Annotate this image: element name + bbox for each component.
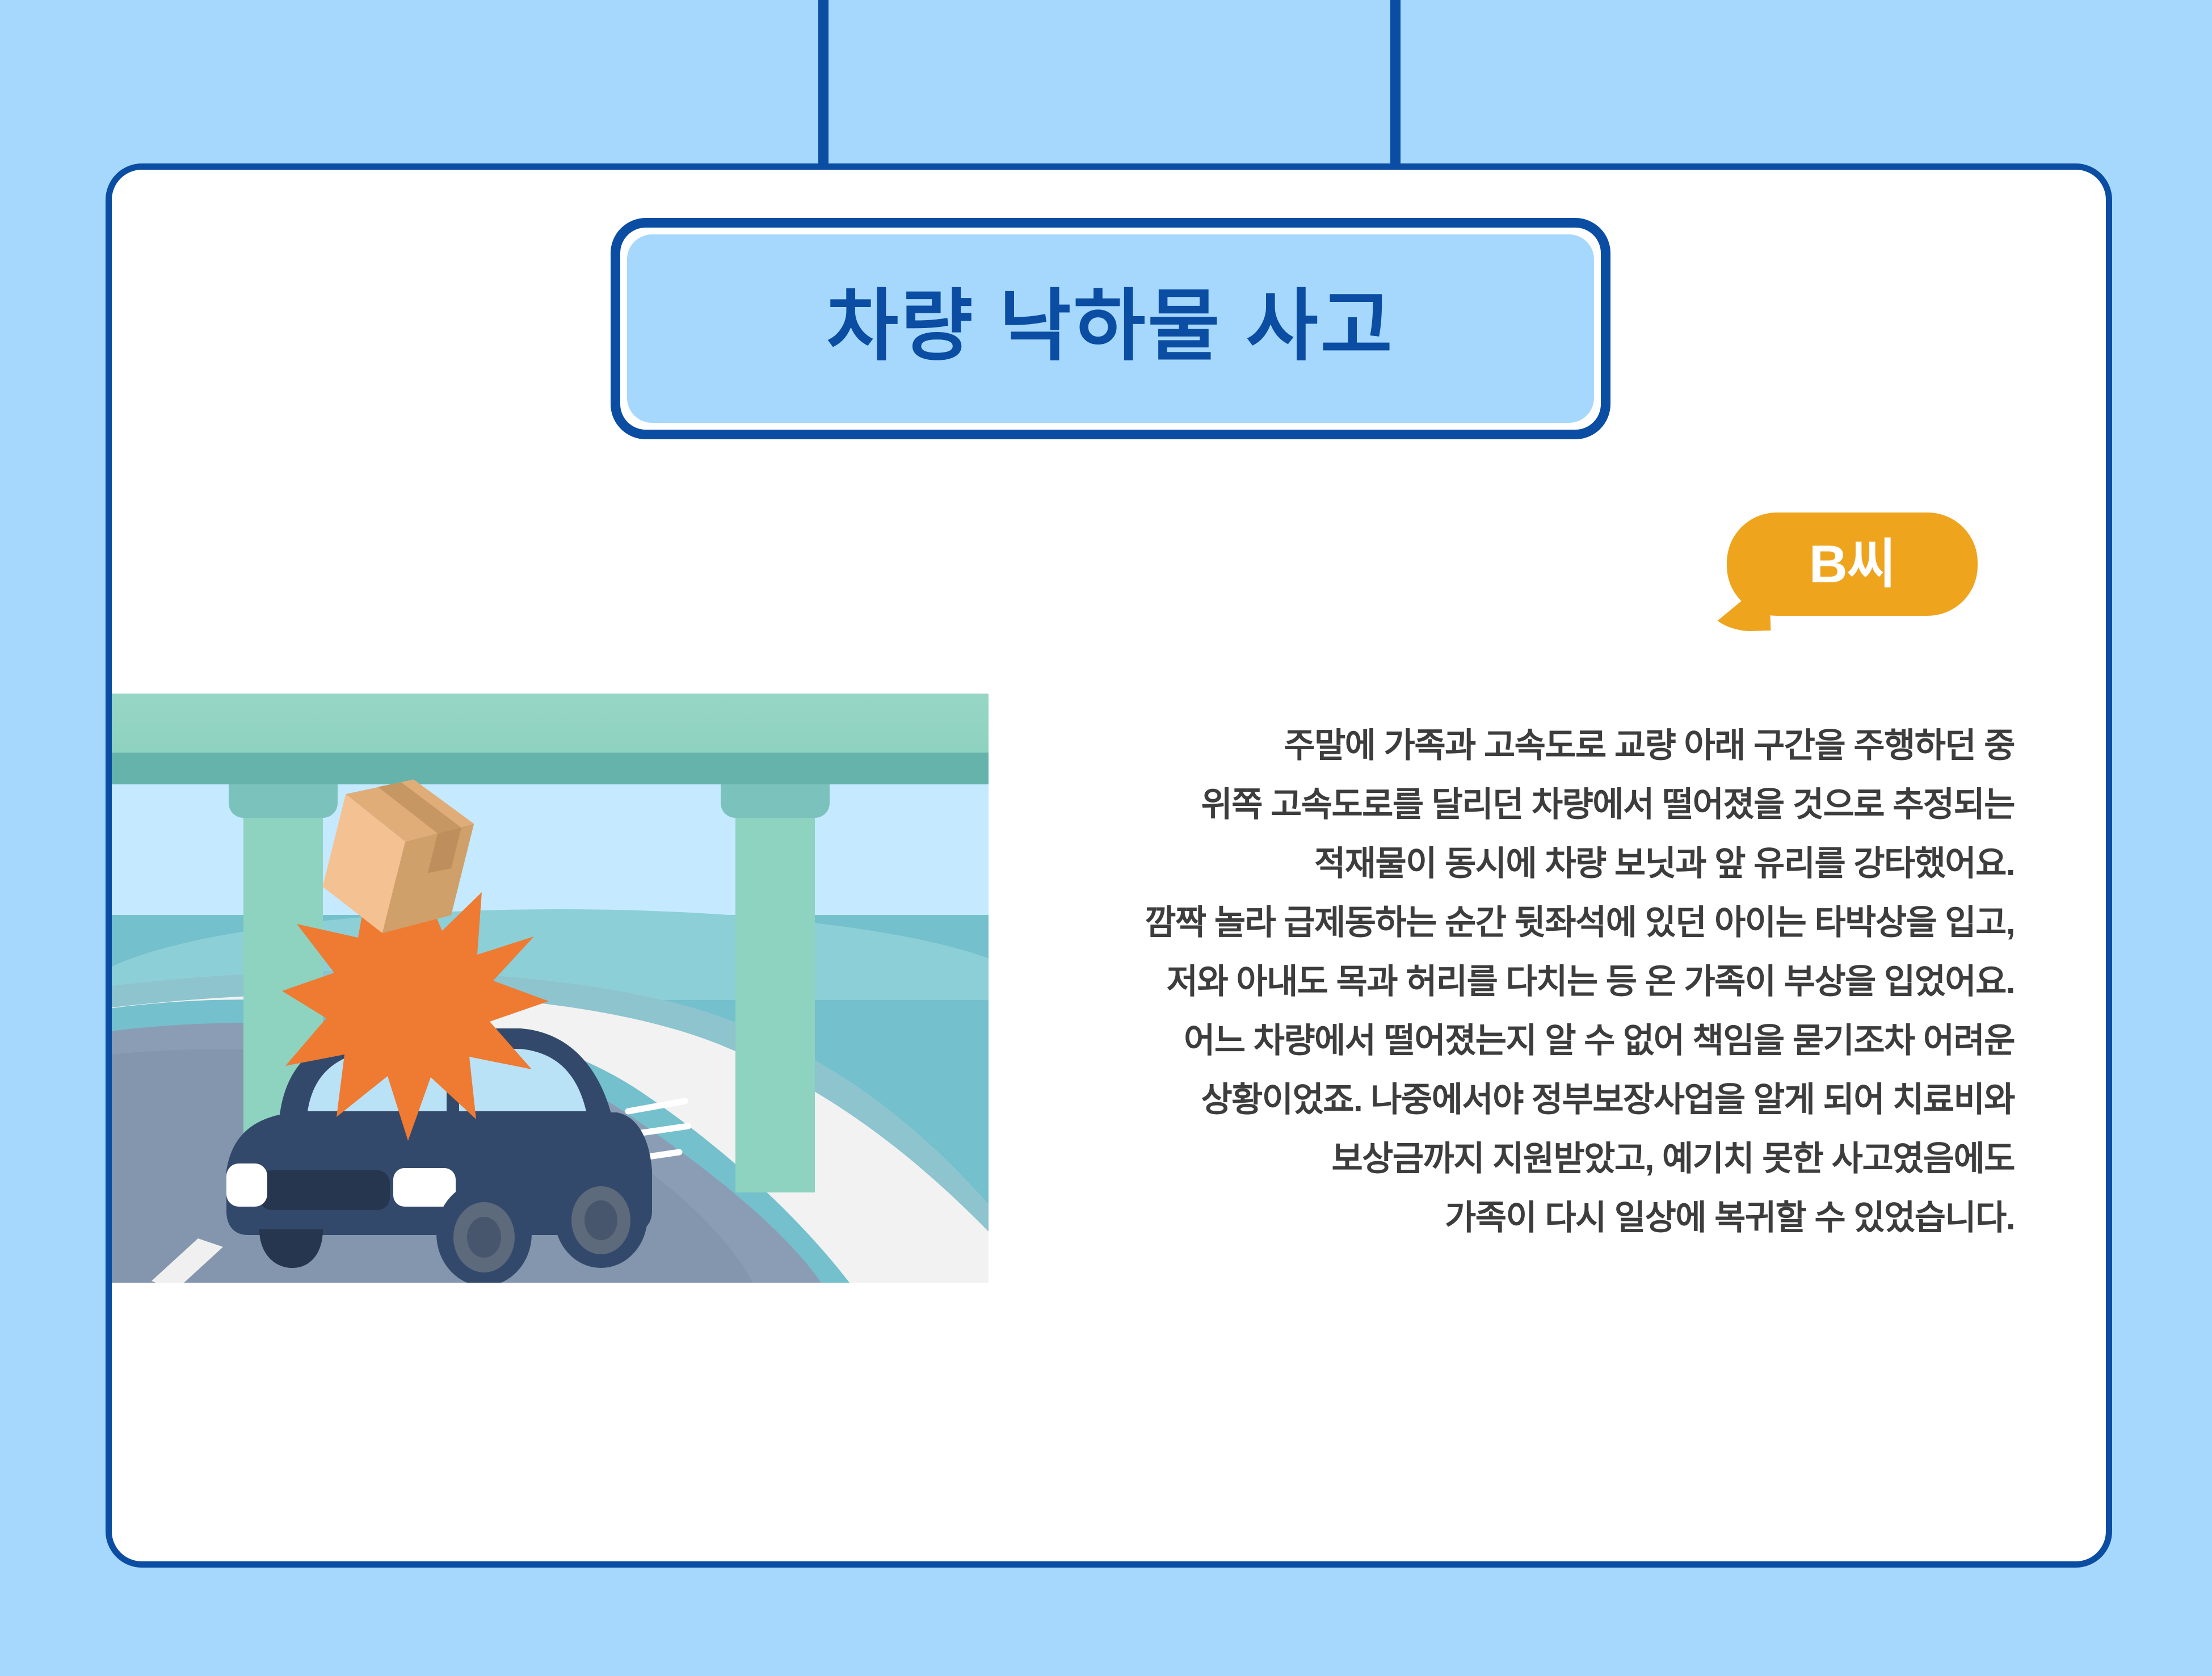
- story-line: 주말에 가족과 고속도로 교량 아래 구간을 주행하던 중: [987, 716, 2015, 775]
- accident-illustration: [112, 694, 989, 1283]
- story-line: 상황이었죠. 나중에서야 정부보장사업을 알게 되어 치료비와: [987, 1070, 2015, 1129]
- speaker-name: B씨: [1809, 537, 1895, 591]
- bridge-deck-shadow: [112, 753, 989, 784]
- bridge-deck: [112, 694, 989, 753]
- story-line: 깜짝 놀라 급제동하는 순간 뒷좌석에 있던 아이는 타박상을 입고,: [987, 893, 2015, 952]
- speaker-bubble: B씨: [1727, 513, 1978, 616]
- story-line: 위쪽 고속도로를 달리던 차량에서 떨어졌을 것으로 추정되는: [987, 775, 2015, 834]
- testimonial-text: 주말에 가족과 고속도로 교량 아래 구간을 주행하던 중 위쪽 고속도로를 달…: [987, 716, 2015, 1247]
- story-line: 보상금까지 지원받았고, 예기치 못한 사고였음에도: [987, 1129, 2015, 1188]
- title-sign-inner: 차량 낙하물 사고: [627, 234, 1594, 423]
- story-line: 저와 아내도 목과 허리를 다치는 등 온 가족이 부상을 입었어요.: [987, 952, 2015, 1011]
- falling-cargo-box: [298, 763, 485, 950]
- bridge-pillar-shaft-right: [735, 818, 815, 1192]
- story-line: 어느 차량에서 떨어졌는지 알 수 없어 책임을 묻기조차 어려운: [987, 1011, 2015, 1070]
- story-line: 가족이 다시 일상에 복귀할 수 있었습니다.: [987, 1188, 2015, 1247]
- page-title: 차량 낙하물 사고: [826, 287, 1394, 366]
- title-sign: 차량 낙하물 사고: [611, 218, 1610, 439]
- story-line: 적재물이 동시에 차량 보닛과 앞 유리를 강타했어요.: [987, 834, 2015, 893]
